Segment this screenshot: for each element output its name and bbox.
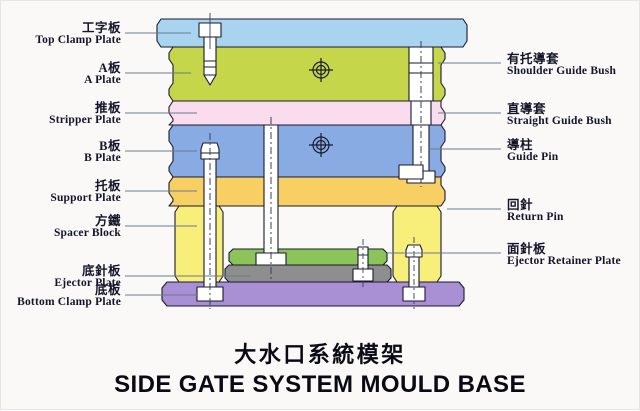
label-stripper-plate: 推板 Stripper Plate <box>1 102 121 126</box>
label-b-plate: B板 B Plate <box>1 140 121 164</box>
label-ejector-retainer-plate-en: Ejector Retainer Plate <box>507 256 621 268</box>
label-spacer-block: 方鐵 Spacer Block <box>1 215 121 239</box>
label-a-plate: A板 A Plate <box>1 62 121 86</box>
label-shoulder-guide-bush-en: Shoulder Guide Bush <box>507 66 616 78</box>
label-return-pin-en: Return Pin <box>507 212 564 224</box>
label-spacer-block-en: Spacer Block <box>1 228 121 240</box>
label-support-plate-cn: 托板 <box>1 180 121 193</box>
label-straight-guide-bush-en: Straight Guide Bush <box>507 116 612 128</box>
label-top-clamp-plate-cn: 工字板 <box>1 22 121 35</box>
label-b-plate-en: B Plate <box>1 153 121 165</box>
label-return-pin-cn: 回針 <box>507 199 564 212</box>
label-a-plate-en: A Plate <box>1 75 121 87</box>
label-stripper-plate-en: Stripper Plate <box>1 115 121 127</box>
label-bottom-clamp-plate-en: Bottom Clamp Plate <box>1 297 121 309</box>
mould-base-diagram-page: 工字板 Top Clamp Plate A板 A Plate 推板 Stripp… <box>0 0 640 410</box>
diagram-title-cn: 大水口系統模架 <box>1 337 639 369</box>
label-support-plate: 托板 Support Plate <box>1 180 121 204</box>
label-ejector-retainer-plate-cn: 面針板 <box>507 243 621 256</box>
label-spacer-block-cn: 方鐵 <box>1 215 121 228</box>
label-shoulder-guide-bush-cn: 有托導套 <box>507 53 616 66</box>
label-guide-pin: 導柱 Guide Pin <box>507 139 558 163</box>
diagram-title-block: 大水口系統模架 SIDE GATE SYSTEM MOULD BASE <box>1 337 639 399</box>
label-shoulder-guide-bush: 有托導套 Shoulder Guide Bush <box>507 53 616 77</box>
label-support-plate-en: Support Plate <box>1 193 121 205</box>
label-return-pin: 回針 Return Pin <box>507 199 564 223</box>
label-straight-guide-bush-cn: 直導套 <box>507 103 612 116</box>
label-top-clamp-plate: 工字板 Top Clamp Plate <box>1 22 121 46</box>
label-a-plate-cn: A板 <box>1 62 121 75</box>
support-plate-screw-head <box>399 165 423 179</box>
diagram-title-en: SIDE GATE SYSTEM MOULD BASE <box>1 371 639 399</box>
label-stripper-plate-cn: 推板 <box>1 102 121 115</box>
label-bottom-clamp-plate: 底板 Bottom Clamp Plate <box>1 284 121 308</box>
label-ejector-plate-cn: 底針板 <box>1 265 121 278</box>
label-ejector-retainer-plate: 面針板 Ejector Retainer Plate <box>507 243 621 267</box>
label-straight-guide-bush: 直導套 Straight Guide Bush <box>507 103 612 127</box>
label-guide-pin-cn: 導柱 <box>507 139 558 152</box>
label-top-clamp-plate-en: Top Clamp Plate <box>1 35 121 47</box>
label-b-plate-cn: B板 <box>1 140 121 153</box>
label-bottom-clamp-plate-cn: 底板 <box>1 284 121 297</box>
label-guide-pin-en: Guide Pin <box>507 152 558 164</box>
plate-stripper <box>169 101 445 125</box>
